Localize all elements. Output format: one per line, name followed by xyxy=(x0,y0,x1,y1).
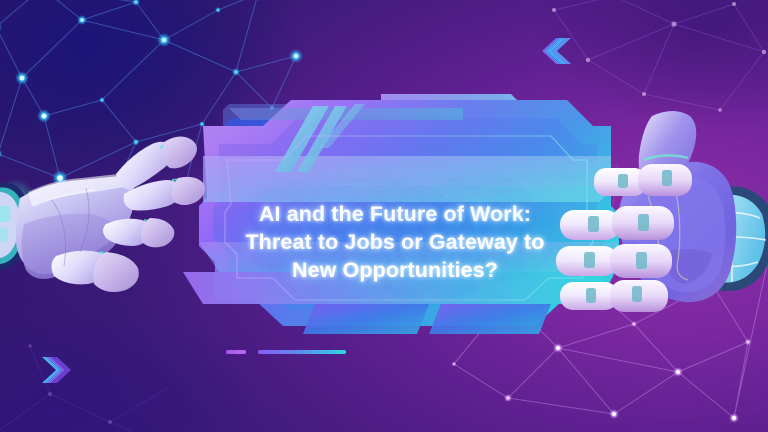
decorative-dashes xyxy=(226,350,346,354)
finger-segment-group xyxy=(594,164,692,196)
dash-large-icon xyxy=(258,350,346,354)
page-title: AI and the Future of Work: Threat to Job… xyxy=(163,200,627,284)
poster-canvas: AI and the Future of Work: Threat to Job… xyxy=(0,0,768,432)
dash-small-icon xyxy=(226,350,246,354)
